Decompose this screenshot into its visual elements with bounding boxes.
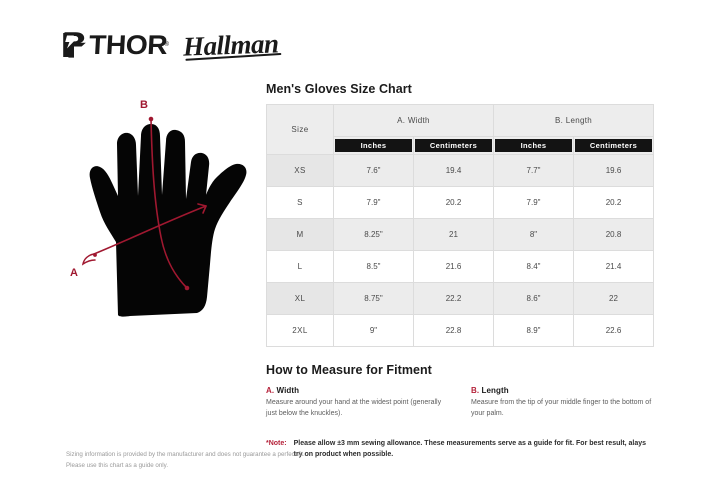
cell-length-inches: 8.9" xyxy=(494,315,574,347)
cell-length-centimeters: 21.4 xyxy=(574,251,654,283)
content-column: Men's Gloves Size Chart Size A. Width B.… xyxy=(266,82,654,460)
col-header-width-inches: Inches xyxy=(334,137,414,155)
col-header-length-centimeters: Centimeters xyxy=(574,137,654,155)
footer-disclaimer: Sizing information is provided by the ma… xyxy=(66,450,305,472)
how-to-measure-title: How to Measure for Fitment xyxy=(266,363,654,377)
measure-name-length: Length xyxy=(479,386,509,395)
hallman-logo: Hallman xyxy=(182,30,278,60)
measure-name-width: Width xyxy=(274,386,299,395)
col-group-length: B. Length xyxy=(494,105,654,137)
cell-size: XS xyxy=(267,155,334,187)
cell-size: 2XL xyxy=(267,315,334,347)
table-row: XL 8.75" 22.2 8.6" 22 xyxy=(267,283,654,315)
thor-logo: THOR ® xyxy=(62,30,169,60)
col-group-width: A. Width xyxy=(334,105,494,137)
cell-width-centimeters: 21.6 xyxy=(414,251,494,283)
diagram-label-a: A xyxy=(70,267,78,279)
measure-columns: A. Width Measure around your hand at the… xyxy=(266,386,654,420)
cell-width-centimeters: 21 xyxy=(414,219,494,251)
hand-silhouette xyxy=(90,124,247,317)
cell-length-inches: 7.9" xyxy=(494,187,574,219)
cell-width-centimeters: 22.2 xyxy=(414,283,494,315)
hand-diagram-svg: B A xyxy=(58,92,268,322)
thor-wordmark: THOR xyxy=(88,32,168,59)
cell-length-inches: 7.7" xyxy=(494,155,574,187)
disclaimer-line-2: Please use this chart as a guide only. xyxy=(66,461,305,472)
cell-length-centimeters: 22 xyxy=(574,283,654,315)
cell-length-centimeters: 19.6 xyxy=(574,155,654,187)
cell-width-centimeters: 20.2 xyxy=(414,187,494,219)
hand-measurement-diagram: B A xyxy=(58,92,268,322)
cell-width-inches: 9" xyxy=(334,315,414,347)
cell-length-inches: 8.4" xyxy=(494,251,574,283)
unit-label-width-inches: Inches xyxy=(335,139,412,152)
measure-item-length: B. Length Measure from the tip of your m… xyxy=(471,386,654,420)
cell-length-centimeters: 20.8 xyxy=(574,219,654,251)
col-header-width-centimeters: Centimeters xyxy=(414,137,494,155)
brand-logo-row: THOR ® Hallman xyxy=(62,30,278,60)
cell-length-inches: 8.6" xyxy=(494,283,574,315)
unit-label-length-inches: Inches xyxy=(495,139,572,152)
cell-size: L xyxy=(267,251,334,283)
measure-item-length-heading: B. Length xyxy=(471,386,654,395)
size-chart-page: THOR ® Hallman xyxy=(0,0,720,492)
table-row: L 8.5" 21.6 8.4" 21.4 xyxy=(267,251,654,283)
cell-size: XL xyxy=(267,283,334,315)
size-chart-table: Size A. Width B. Length Inches Centimete… xyxy=(266,104,654,347)
note-text: Please allow ±3 mm sewing allowance. The… xyxy=(294,439,654,461)
cell-width-inches: 8.75" xyxy=(334,283,414,315)
cell-length-inches: 8" xyxy=(494,219,574,251)
table-row: 2XL 9" 22.8 8.9" 22.6 xyxy=(267,315,654,347)
cell-width-inches: 8.25" xyxy=(334,219,414,251)
cell-width-inches: 8.5" xyxy=(334,251,414,283)
measure-item-width-body: Measure around your hand at the widest p… xyxy=(266,398,449,420)
table-header-row-groups: Size A. Width B. Length xyxy=(267,105,654,137)
measure-item-length-body: Measure from the tip of your middle fing… xyxy=(471,398,654,420)
table-header: Size A. Width B. Length Inches Centimete… xyxy=(267,105,654,155)
cell-width-inches: 7.9" xyxy=(334,187,414,219)
disclaimer-line-1: Sizing information is provided by the ma… xyxy=(66,450,305,461)
cell-width-centimeters: 22.8 xyxy=(414,315,494,347)
measure-letter-b: B. xyxy=(471,386,479,395)
diagram-label-b: B xyxy=(140,99,148,111)
page-title: Men's Gloves Size Chart xyxy=(266,82,654,96)
cell-length-centimeters: 22.6 xyxy=(574,315,654,347)
cell-length-centimeters: 20.2 xyxy=(574,187,654,219)
cell-width-inches: 7.6" xyxy=(334,155,414,187)
measure-letter-a: A. xyxy=(266,386,274,395)
col-header-length-inches: Inches xyxy=(494,137,574,155)
note-row: *Note: Please allow ±3 mm sewing allowan… xyxy=(266,439,654,461)
table-row: XS 7.6" 19.4 7.7" 19.6 xyxy=(267,155,654,187)
table-row: M 8.25" 21 8" 20.8 xyxy=(267,219,654,251)
note-label: *Note: xyxy=(266,439,287,450)
table-row: S 7.9" 20.2 7.9" 20.2 xyxy=(267,187,654,219)
measure-item-width: A. Width Measure around your hand at the… xyxy=(266,386,449,420)
cell-size: M xyxy=(267,219,334,251)
cell-size: S xyxy=(267,187,334,219)
unit-label-length-centimeters: Centimeters xyxy=(575,139,652,152)
thor-hammer-icon xyxy=(62,30,88,60)
cell-width-centimeters: 19.4 xyxy=(414,155,494,187)
col-header-size: Size xyxy=(267,105,334,155)
measure-item-width-heading: A. Width xyxy=(266,386,449,395)
how-to-measure-section: How to Measure for Fitment A. Width Meas… xyxy=(266,363,654,460)
unit-label-width-centimeters: Centimeters xyxy=(415,139,492,152)
table-body: XS 7.6" 19.4 7.7" 19.6 S 7.9" 20.2 7.9" … xyxy=(267,155,654,347)
